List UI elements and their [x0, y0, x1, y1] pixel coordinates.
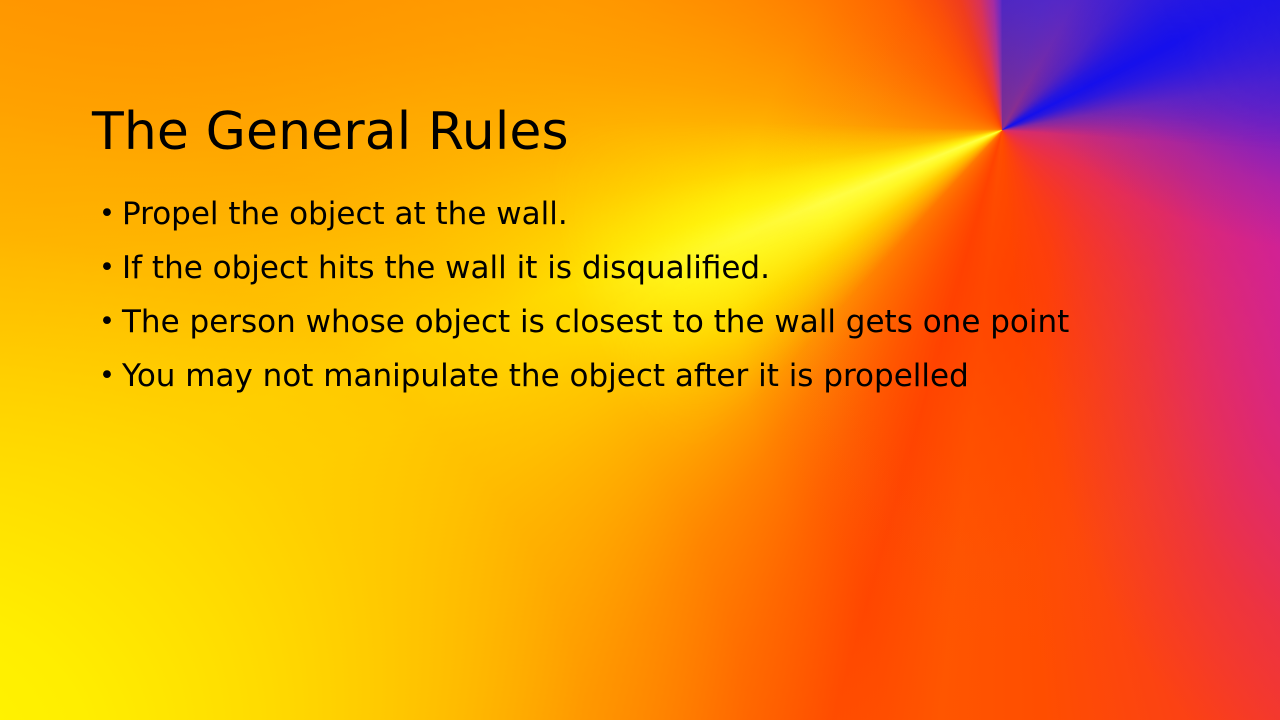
bullet-item-text: The person whose object is closest to th…	[122, 300, 1069, 344]
bullet-list-item: • You may not manipulate the object afte…	[96, 354, 1156, 408]
slide-title: The General Rules	[92, 103, 569, 161]
bullet-list-item: • If the object hits the wall it is disq…	[96, 246, 1156, 300]
bullet-list-item: • The person whose object is closest to …	[96, 300, 1156, 354]
bullet-point-icon: •	[99, 300, 113, 344]
bullet-list: • Propel the object at the wall. • If th…	[96, 192, 1156, 408]
bullet-item-text: Propel the object at the wall.	[122, 192, 568, 236]
slide-content: The General Rules • Propel the object at…	[0, 0, 1280, 720]
bullet-point-icon: •	[99, 246, 113, 290]
bullet-point-icon: •	[99, 192, 113, 236]
presentation-slide: The General Rules • Propel the object at…	[0, 0, 1280, 720]
bullet-point-icon: •	[99, 354, 113, 398]
bullet-item-text: You may not manipulate the object after …	[122, 354, 969, 398]
bullet-item-text: If the object hits the wall it is disqua…	[122, 246, 770, 290]
bullet-list-item: • Propel the object at the wall.	[96, 192, 1156, 246]
